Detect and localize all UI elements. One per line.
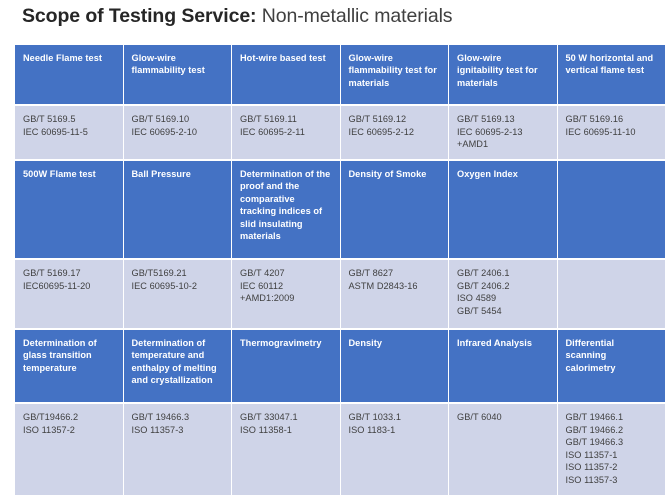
standard-line: GB/T 8627 <box>349 267 441 280</box>
header-cell: Needle Flame test <box>15 45 123 104</box>
standard-line: GB/T 5169.5 <box>23 113 115 126</box>
standards-cell: GB/T 4207IEC 60112+AMD1:2009 <box>232 260 340 328</box>
header-cell: Infrared Analysis <box>449 330 557 402</box>
standards-cell: GB/T19466.2ISO 11357-2 <box>15 404 123 495</box>
standard-line: ISO 1183-1 <box>349 424 441 437</box>
standards-cell: GB/T 19466.3ISO 11357-3 <box>124 404 232 495</box>
standards-cell: GB/T 8627ASTM D2843-16 <box>341 260 449 328</box>
standard-line: +AMD1:2009 <box>240 292 332 305</box>
standard-line: GB/T 6040 <box>457 411 549 424</box>
header-cell: Glow-wire ignitability test for material… <box>449 45 557 104</box>
header-cell: Determination of temperature and enthalp… <box>124 330 232 402</box>
standard-line: IEC 60695-2-13 <box>457 126 549 139</box>
standard-line: IEC 60695-11-5 <box>23 126 115 139</box>
standard-line: GB/T 5169.10 <box>132 113 224 126</box>
standard-line: GB/T 19466.2 <box>566 424 658 437</box>
standard-line: ISO 11357-3 <box>566 474 658 487</box>
header-row: Determination of glass transition temper… <box>15 330 665 402</box>
header-cell: Glow-wire flammability test for material… <box>341 45 449 104</box>
standards-cell: GB/T 5169.10IEC 60695-2-10 <box>124 106 232 159</box>
header-cell: Determination of glass transition temper… <box>15 330 123 402</box>
standard-line: ISO 11357-3 <box>132 424 224 437</box>
standards-cell: GB/T 5169.12IEC 60695-2-12 <box>341 106 449 159</box>
standards-cell: GB/T 5169.16IEC 60695-11-10 <box>558 106 666 159</box>
header-cell: Differential scanning calorimetry <box>558 330 666 402</box>
standard-line: IEC 60112 <box>240 280 332 293</box>
standards-cell: GB/T 5169.17IEC60695-11-20 <box>15 260 123 328</box>
standards-row: GB/T19466.2ISO 11357-2 GB/T 19466.3ISO 1… <box>15 404 665 495</box>
header-cell-empty <box>558 161 666 258</box>
standard-line: IEC 60695-2-10 <box>132 126 224 139</box>
standards-cell: GB/T 5169.5IEC 60695-11-5 <box>15 106 123 159</box>
standard-line: +AMD1 <box>457 138 549 151</box>
standard-line: GB/T 5169.17 <box>23 267 115 280</box>
header-cell: 500W Flame test <box>15 161 123 258</box>
header-cell: Ball Pressure <box>124 161 232 258</box>
standards-cell: GB/T 1033.1ISO 1183-1 <box>341 404 449 495</box>
standard-line: GB/T 5169.11 <box>240 113 332 126</box>
standards-cell-empty <box>558 260 666 328</box>
header-cell: 50 W horizontal and vertical flame test <box>558 45 666 104</box>
standard-line: IEC 60695-2-12 <box>349 126 441 139</box>
standard-line: ISO 11357-1 <box>566 449 658 462</box>
scope-of-testing-service-slide: Scope of Testing Service: Non-metallic m… <box>0 0 672 471</box>
standard-line: ISO 11357-2 <box>566 461 658 474</box>
header-cell: Density <box>341 330 449 402</box>
standards-cell: GB/T 5169.11IEC 60695-2-11 <box>232 106 340 159</box>
standards-cell: GB/T 2406.1GB/T 2406.2ISO 4589GB/T 5454 <box>449 260 557 328</box>
header-cell: Determination of the proof and the compa… <box>232 161 340 258</box>
page-title-bold: Scope of Testing Service: <box>22 5 256 27</box>
standard-line: GB/T 33047.1 <box>240 411 332 424</box>
standards-row: GB/T 5169.17IEC60695-11-20 GB/T5169.21IE… <box>15 260 665 328</box>
standard-line: IEC 60695-10-2 <box>132 280 224 293</box>
standard-line: IEC 60695-11-10 <box>566 126 658 139</box>
standard-line: GB/T 1033.1 <box>349 411 441 424</box>
standard-line: GB/T19466.2 <box>23 411 115 424</box>
header-cell: Glow-wire flammability test <box>124 45 232 104</box>
standard-line: ISO 11357-2 <box>23 424 115 437</box>
standards-cell: GB/T5169.21IEC 60695-10-2 <box>124 260 232 328</box>
standard-line: GB/T 19466.3 <box>566 436 658 449</box>
header-cell: Thermogravimetry <box>232 330 340 402</box>
standard-line: IEC60695-11-20 <box>23 280 115 293</box>
standard-line: ISO 4589 <box>457 292 549 305</box>
standard-line: GB/T 5454 <box>457 305 549 318</box>
standard-line: ASTM D2843-16 <box>349 280 441 293</box>
standards-cell: GB/T 19466.1GB/T 19466.2GB/T 19466.3ISO … <box>558 404 666 495</box>
standard-line: GB/T 19466.1 <box>566 411 658 424</box>
standard-line: GB/T 19466.3 <box>132 411 224 424</box>
standards-row: GB/T 5169.5IEC 60695-11-5 GB/T 5169.10IE… <box>15 106 665 159</box>
standard-line: GB/T 5169.16 <box>566 113 658 126</box>
scope-table-container: Needle Flame test Glow-wire flammability… <box>14 45 663 495</box>
standard-line: GB/T 5169.13 <box>457 113 549 126</box>
standard-line: GB/T 2406.2 <box>457 280 549 293</box>
scope-table: Needle Flame test Glow-wire flammability… <box>14 45 666 495</box>
header-row: Needle Flame test Glow-wire flammability… <box>15 45 665 104</box>
standard-line: GB/T 2406.1 <box>457 267 549 280</box>
standards-cell: GB/T 5169.13IEC 60695-2-13+AMD1 <box>449 106 557 159</box>
standard-line: GB/T5169.21 <box>132 267 224 280</box>
standard-line: ISO 11358-1 <box>240 424 332 437</box>
page-title: Scope of Testing Service: Non-metallic m… <box>22 1 452 31</box>
standard-line: GB/T 4207 <box>240 267 332 280</box>
header-row: 500W Flame test Ball Pressure Determinat… <box>15 161 665 258</box>
scope-table-body: Needle Flame test Glow-wire flammability… <box>15 45 665 495</box>
page-title-normal: Non-metallic materials <box>256 5 452 27</box>
header-cell: Hot-wire based test <box>232 45 340 104</box>
standards-cell: GB/T 33047.1ISO 11358-1 <box>232 404 340 495</box>
header-cell: Oxygen Index <box>449 161 557 258</box>
standard-line: GB/T 5169.12 <box>349 113 441 126</box>
standards-cell: GB/T 6040 <box>449 404 557 495</box>
header-cell: Density of Smoke <box>341 161 449 258</box>
standard-line: IEC 60695-2-11 <box>240 126 332 139</box>
